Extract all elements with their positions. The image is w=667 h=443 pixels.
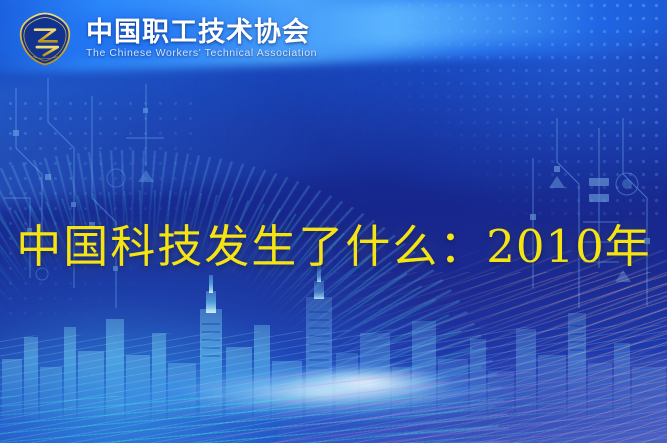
page-title-year: 2010年 bbox=[486, 220, 651, 273]
page-title-topic: 中国科技发生了什么： bbox=[16, 220, 486, 273]
brand-name-en: The Chinese Workers' Technical Associati… bbox=[86, 48, 317, 59]
page-title: 中国科技发生了什么：2010年 bbox=[0, 210, 667, 275]
brand-header: 中国职工技术协会 The Chinese Workers' Technical … bbox=[0, 0, 667, 78]
city-skyline-silhouette bbox=[0, 263, 667, 443]
shield-monogram-logo-icon bbox=[16, 10, 74, 68]
brand-text-block: 中国职工技术协会 The Chinese Workers' Technical … bbox=[86, 19, 317, 59]
brand-name-cn: 中国职工技术协会 bbox=[86, 19, 317, 46]
poster-canvas: 中国职工技术协会 The Chinese Workers' Technical … bbox=[0, 0, 667, 443]
